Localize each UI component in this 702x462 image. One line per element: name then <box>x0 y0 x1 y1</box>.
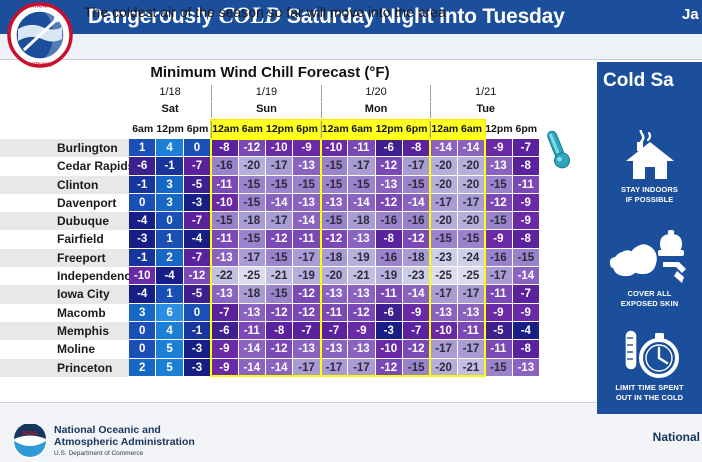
wind-chill-cell: -1 <box>129 249 156 267</box>
wind-chill-cell: 3 <box>156 194 183 212</box>
wind-chill-cell: -13 <box>211 285 238 303</box>
wind-chill-cell: -6 <box>376 304 403 322</box>
wind-chill-cell: -9 <box>513 194 540 212</box>
wind-chill-cell: -18 <box>321 249 348 267</box>
wind-chill-cell: -20 <box>458 176 485 194</box>
wind-chill-cell: -8 <box>513 340 540 358</box>
wind-chill-cell: -17 <box>266 212 293 230</box>
wind-chill-cell: -15 <box>403 359 430 377</box>
wind-chill-cell: -4 <box>513 322 540 340</box>
footer-blue-strip <box>597 402 702 414</box>
wind-chill-cell: -3 <box>184 340 211 358</box>
wind-chill-cell: -9 <box>293 139 320 157</box>
wind-chill-cell: -14 <box>293 212 320 230</box>
wind-chill-cell: -4 <box>184 230 211 248</box>
wind-chill-cell: -10 <box>321 139 348 157</box>
wind-chill-cell: -17 <box>458 285 485 303</box>
wind-chill-cell: -15 <box>239 176 266 194</box>
wind-chill-cell: -14 <box>348 194 375 212</box>
column-day-mon: Mon <box>321 102 431 118</box>
wind-chill-cell: -13 <box>376 176 403 194</box>
wind-chill-cell: -4 <box>156 267 183 285</box>
wind-chill-cell: -3 <box>184 359 211 377</box>
column-day-sat: Sat <box>129 102 211 118</box>
wind-chill-cell: -17 <box>403 157 430 175</box>
wind-chill-cell: -11 <box>211 176 238 194</box>
wind-chill-cell: -12 <box>266 230 293 248</box>
column-date-1-21: 1/21 <box>430 85 540 101</box>
wind-chill-cell: -21 <box>266 267 293 285</box>
city-label: Cedar Rapids <box>57 157 129 175</box>
wind-chill-cell: -25 <box>458 267 485 285</box>
wind-chill-cell: -14 <box>239 340 266 358</box>
wind-chill-cell: -17 <box>458 340 485 358</box>
wind-chill-cell: 0 <box>129 194 156 212</box>
thermometer-icon <box>541 127 575 171</box>
column-time-mon-6am: 6am <box>348 121 375 138</box>
wind-chill-cell: -16 <box>376 249 403 267</box>
wind-chill-cell: 6 <box>156 304 183 322</box>
thermometer-stopwatch-icon <box>615 326 685 380</box>
wind-chill-cell: -15 <box>321 176 348 194</box>
wind-chill-cell: -13 <box>293 194 320 212</box>
wind-chill-cell: -13 <box>348 340 375 358</box>
wind-chill-cell: -12 <box>376 359 403 377</box>
wind-chill-cell: -8 <box>513 157 540 175</box>
wind-chill-cell: -1 <box>156 157 183 175</box>
wind-chill-cell: -19 <box>293 267 320 285</box>
wind-chill-cell: -12 <box>239 139 266 157</box>
wind-chill-cell: -20 <box>458 157 485 175</box>
noaa-line3: U.S. Department of Commerce <box>54 450 195 457</box>
wind-chill-cell: -13 <box>293 340 320 358</box>
column-time-sat-12pm: 12pm <box>156 121 183 138</box>
wind-chill-cell: -17 <box>458 194 485 212</box>
wind-chill-cell: -8 <box>376 230 403 248</box>
wind-chill-cell: -13 <box>430 304 457 322</box>
wind-chill-cell: -16 <box>211 157 238 175</box>
city-label: Macomb <box>57 304 129 322</box>
safety-caption-line2: IF POSSIBLE <box>597 195 702 205</box>
wind-chill-cell: 0 <box>184 139 211 157</box>
wind-chill-cell: -13 <box>485 157 512 175</box>
safety-item-cover-skin: COVER ALL EXPOSED SKIN <box>597 230 702 309</box>
wind-chill-cell: -13 <box>211 249 238 267</box>
wind-chill-cell: -17 <box>430 340 457 358</box>
wind-chill-cell: 5 <box>156 359 183 377</box>
column-time-mon-12am: 12am <box>321 121 348 138</box>
city-label: Moline <box>57 340 129 358</box>
wind-chill-cell: -6 <box>129 157 156 175</box>
column-time-tue-12pm: 12pm <box>485 121 512 138</box>
wind-chill-cell: -8 <box>513 230 540 248</box>
wind-chill-cell: -12 <box>485 194 512 212</box>
wind-chill-cell: -21 <box>348 267 375 285</box>
wind-chill-cell: -19 <box>348 249 375 267</box>
wind-chill-cell: -13 <box>239 304 266 322</box>
wind-chill-cell: -25 <box>239 267 266 285</box>
wind-chill-cell: -10 <box>266 139 293 157</box>
wind-chill-cell: 0 <box>184 304 211 322</box>
wind-chill-cell: -7 <box>513 285 540 303</box>
wind-chill-cell: -20 <box>430 157 457 175</box>
wind-chill-cell: -18 <box>239 212 266 230</box>
wind-chill-cell: -15 <box>485 212 512 230</box>
wind-chill-cell: -4 <box>129 285 156 303</box>
footer-right-text: National <box>640 430 700 444</box>
wind-chill-cell: -10 <box>430 322 457 340</box>
wind-chill-cell: -12 <box>376 194 403 212</box>
wind-chill-cell: 5 <box>156 340 183 358</box>
wind-chill-cell: -10 <box>129 267 156 285</box>
city-label: Clinton <box>57 176 129 194</box>
wind-chill-cell: -14 <box>239 359 266 377</box>
wind-chill-cell: 0 <box>129 340 156 358</box>
wind-chill-cell: 2 <box>156 249 183 267</box>
wind-chill-cell: -17 <box>348 157 375 175</box>
column-time-sun-12pm: 12pm <box>266 121 293 138</box>
wind-chill-cell: -9 <box>513 304 540 322</box>
wind-chill-cell: -15 <box>485 176 512 194</box>
wind-chill-cell: 1 <box>129 139 156 157</box>
city-label: Iowa City <box>57 285 129 303</box>
safety-caption-line1: STAY INDOORS <box>597 185 702 195</box>
wind-chill-cell: -17 <box>348 359 375 377</box>
wind-chill-cell: -7 <box>184 249 211 267</box>
wind-chill-cell: -20 <box>239 157 266 175</box>
wind-chill-cell: -14 <box>403 285 430 303</box>
wind-chill-cell: -17 <box>430 285 457 303</box>
wind-chill-cell: -18 <box>348 212 375 230</box>
wind-chill-cell: -16 <box>403 212 430 230</box>
wind-chill-cell: 1 <box>156 285 183 303</box>
wind-chill-cell: -9 <box>403 304 430 322</box>
column-time-sun-6pm: 6pm <box>293 121 320 138</box>
column-date-1-18: 1/18 <box>129 85 211 101</box>
wind-chill-cell: 3 <box>156 176 183 194</box>
svg-text:NATIONAL: NATIONAL <box>27 4 54 10</box>
wind-chill-cell: -12 <box>403 230 430 248</box>
city-label: Independence <box>57 267 129 285</box>
city-label: Fairfield <box>57 230 129 248</box>
safety-item-limit-time: LIMIT TIME SPENT OUT IN THE COLD <box>597 326 702 403</box>
wind-chill-cell: -17 <box>430 194 457 212</box>
wind-chill-cell: -15 <box>266 176 293 194</box>
wind-chill-cell: -7 <box>293 322 320 340</box>
wind-chill-cell: -21 <box>458 359 485 377</box>
wind-chill-cell: -11 <box>321 304 348 322</box>
wind-chill-cell: 4 <box>156 139 183 157</box>
wind-chill-cell: -4 <box>129 212 156 230</box>
wind-chill-cell: -15 <box>266 285 293 303</box>
svg-text:SERVICE: SERVICE <box>29 63 52 69</box>
column-date-1-19: 1/19 <box>211 85 321 101</box>
wind-chill-cell: -22 <box>211 267 238 285</box>
city-label: Davenport <box>57 194 129 212</box>
wind-chill-cell: -13 <box>513 359 540 377</box>
wind-chill-cell: 0 <box>156 212 183 230</box>
column-date-1-20: 1/20 <box>321 85 431 101</box>
wind-chill-cell: -14 <box>513 267 540 285</box>
wind-chill-cell: -3 <box>129 230 156 248</box>
wind-chill-cell: -9 <box>485 139 512 157</box>
wind-chill-cell: -9 <box>513 212 540 230</box>
wind-chill-cell: -12 <box>266 304 293 322</box>
wind-chill-cell: -7 <box>184 212 211 230</box>
column-time-tue-6pm: 6pm <box>513 121 540 138</box>
wind-chill-cell: -23 <box>403 267 430 285</box>
wind-chill-cell: -7 <box>513 139 540 157</box>
svg-text:NOAA: NOAA <box>23 431 38 437</box>
wind-chill-cell: -12 <box>403 340 430 358</box>
wind-chill-cell: -7 <box>321 322 348 340</box>
wind-chill-cell: -11 <box>239 322 266 340</box>
wind-chill-cell: -1 <box>129 176 156 194</box>
wind-chill-cell: -11 <box>376 285 403 303</box>
city-label: Memphis <box>57 322 129 340</box>
wind-chill-cell: -14 <box>403 194 430 212</box>
wind-chill-cell: -15 <box>348 176 375 194</box>
wind-chill-cell: -5 <box>184 176 211 194</box>
wind-chill-cell: -9 <box>485 304 512 322</box>
city-label: Dubuque <box>57 212 129 230</box>
noaa-logo: NOAA <box>12 424 48 458</box>
wind-chill-cell: -5 <box>485 322 512 340</box>
column-time-sat-6pm: 6pm <box>184 121 211 138</box>
wind-chill-cell: -15 <box>211 212 238 230</box>
safety-caption-line2: EXPOSED SKIN <box>597 299 702 309</box>
wind-chill-cell: -11 <box>485 285 512 303</box>
wind-chill-cell: -12 <box>266 340 293 358</box>
wind-chill-cell: -11 <box>293 230 320 248</box>
wind-chill-cell: -8 <box>266 322 293 340</box>
wind-chill-cell: -15 <box>239 194 266 212</box>
column-time-mon-6pm: 6pm <box>403 121 430 138</box>
wind-chill-cell: -15 <box>293 176 320 194</box>
wind-chill-cell: -14 <box>430 139 457 157</box>
city-label: Freeport <box>57 249 129 267</box>
column-day-sun: Sun <box>211 102 321 118</box>
wind-chill-cell: -7 <box>184 157 211 175</box>
wind-chill-cell: -5 <box>184 285 211 303</box>
wind-chill-cell: -9 <box>211 340 238 358</box>
wind-chill-cell: -9 <box>348 322 375 340</box>
cold-safety-panel: Cold Sa STAY INDOORS IF POSSIBLE <box>597 62 702 402</box>
wind-chill-cell: -14 <box>266 359 293 377</box>
wind-chill-cell: -7 <box>403 322 430 340</box>
column-time-mon-12pm: 12pm <box>376 121 403 138</box>
mittens-hat-scarf-icon <box>608 230 692 286</box>
noaa-line2: Atmospheric Administration <box>54 436 195 448</box>
wind-chill-cell: -16 <box>376 212 403 230</box>
wind-chill-cell: 0 <box>129 322 156 340</box>
column-time-sat-6am: 6am <box>129 121 156 138</box>
wind-chill-cell: -10 <box>376 340 403 358</box>
wind-chill-cell: -11 <box>458 322 485 340</box>
subtitle: The coldest air of the season so far wil… <box>84 4 446 20</box>
wind-chill-cell: -20 <box>430 359 457 377</box>
wind-chill-cell: -15 <box>266 249 293 267</box>
column-time-tue-6am: 6am <box>458 121 485 138</box>
cold-safety-title: Cold Sa <box>603 70 702 92</box>
wind-chill-cell: 2 <box>129 359 156 377</box>
subtitle-bar <box>0 34 702 60</box>
wind-chill-cell: -13 <box>321 285 348 303</box>
safety-caption-line1: COVER ALL <box>597 289 702 299</box>
noaa-line1: National Oceanic and <box>54 424 195 436</box>
wind-chill-cell: -8 <box>211 139 238 157</box>
wind-chill-cell: -12 <box>293 285 320 303</box>
wind-chill-cell: -15 <box>430 230 457 248</box>
wind-chill-cell: -20 <box>430 212 457 230</box>
wind-chill-cell: -8 <box>403 139 430 157</box>
column-day-tue: Tue <box>430 102 540 118</box>
wind-chill-cell: -13 <box>293 157 320 175</box>
wind-chill-cell: -12 <box>321 230 348 248</box>
wind-chill-cell: -11 <box>485 340 512 358</box>
wind-chill-cell: -6 <box>211 322 238 340</box>
wind-chill-cell: -20 <box>430 176 457 194</box>
city-label: Burlington <box>57 139 129 157</box>
wind-chill-cell: -24 <box>458 249 485 267</box>
wind-chill-cell: -7 <box>211 304 238 322</box>
wind-chill-cell: -9 <box>211 359 238 377</box>
house-with-smoke-icon <box>621 130 679 182</box>
wind-chill-cell: -15 <box>321 212 348 230</box>
wind-chill-cell: 3 <box>129 304 156 322</box>
title-date: Ja <box>682 6 700 23</box>
wind-chill-cell: -14 <box>266 194 293 212</box>
column-time-sun-6am: 6am <box>239 121 266 138</box>
wind-chill-cell: -17 <box>293 249 320 267</box>
wind-chill-cell: 1 <box>156 230 183 248</box>
wind-chill-cell: -17 <box>321 359 348 377</box>
wind-chill-cell: -9 <box>485 230 512 248</box>
national-weather-service-logo: NATIONAL SERVICE <box>6 2 74 68</box>
wind-chill-cell: -20 <box>321 267 348 285</box>
wind-chill-cell: -17 <box>293 359 320 377</box>
wind-chill-cell: -11 <box>211 230 238 248</box>
wind-chill-cell: -16 <box>485 249 512 267</box>
wind-chill-cell: -6 <box>376 139 403 157</box>
wind-chill-cell: -11 <box>348 139 375 157</box>
wind-chill-cell: -12 <box>184 267 211 285</box>
wind-chill-cell: -15 <box>485 359 512 377</box>
wind-chill-cell: -13 <box>321 194 348 212</box>
wind-chill-cell: -12 <box>348 304 375 322</box>
weather-graphic: Dangerously COLD Saturday Night into Tue… <box>0 0 702 462</box>
wind-chill-cell: -14 <box>458 139 485 157</box>
wind-chill-cell: -3 <box>184 194 211 212</box>
wind-chill-cell: -13 <box>348 230 375 248</box>
wind-chill-cell: -15 <box>239 230 266 248</box>
wind-chill-cell: -20 <box>458 212 485 230</box>
wind-chill-cell: -17 <box>266 157 293 175</box>
wind-chill-cell: -11 <box>513 176 540 194</box>
wind-chill-cell: -13 <box>458 304 485 322</box>
column-time-sun-12am: 12am <box>211 121 238 138</box>
wind-chill-cell: -17 <box>485 267 512 285</box>
wind-chill-cell: -17 <box>239 249 266 267</box>
wind-chill-cell: -15 <box>513 249 540 267</box>
safety-caption-line1: LIMIT TIME SPENT <box>597 383 702 393</box>
wind-chill-cell: -25 <box>430 267 457 285</box>
noaa-text-block: National Oceanic and Atmospheric Adminis… <box>54 424 195 457</box>
wind-chill-cell: -15 <box>403 176 430 194</box>
city-label: Princeton <box>57 359 129 377</box>
wind-chill-cell: -13 <box>321 340 348 358</box>
wind-chill-cell: -18 <box>403 249 430 267</box>
wind-chill-cell: 4 <box>156 322 183 340</box>
wind-chill-chart-panel: Minimum Wind Chill Forecast (°F) 1/181/1… <box>0 61 590 401</box>
wind-chill-cell: -23 <box>430 249 457 267</box>
wind-chill-cell: -12 <box>376 157 403 175</box>
wind-chill-cell: -13 <box>348 285 375 303</box>
wind-chill-cell: -19 <box>376 267 403 285</box>
wind-chill-cell: -10 <box>211 194 238 212</box>
wind-chill-cell: -1 <box>184 322 211 340</box>
column-time-tue-12am: 12am <box>430 121 457 138</box>
wind-chill-cell: -12 <box>293 304 320 322</box>
wind-chill-cell: -3 <box>376 322 403 340</box>
wind-chill-cell: -15 <box>321 157 348 175</box>
safety-item-stay-indoors: STAY INDOORS IF POSSIBLE <box>597 130 702 205</box>
wind-chill-cell: -15 <box>458 230 485 248</box>
wind-chill-cell: -18 <box>239 285 266 303</box>
chart-title: Minimum Wind Chill Forecast (°F) <box>0 64 540 81</box>
